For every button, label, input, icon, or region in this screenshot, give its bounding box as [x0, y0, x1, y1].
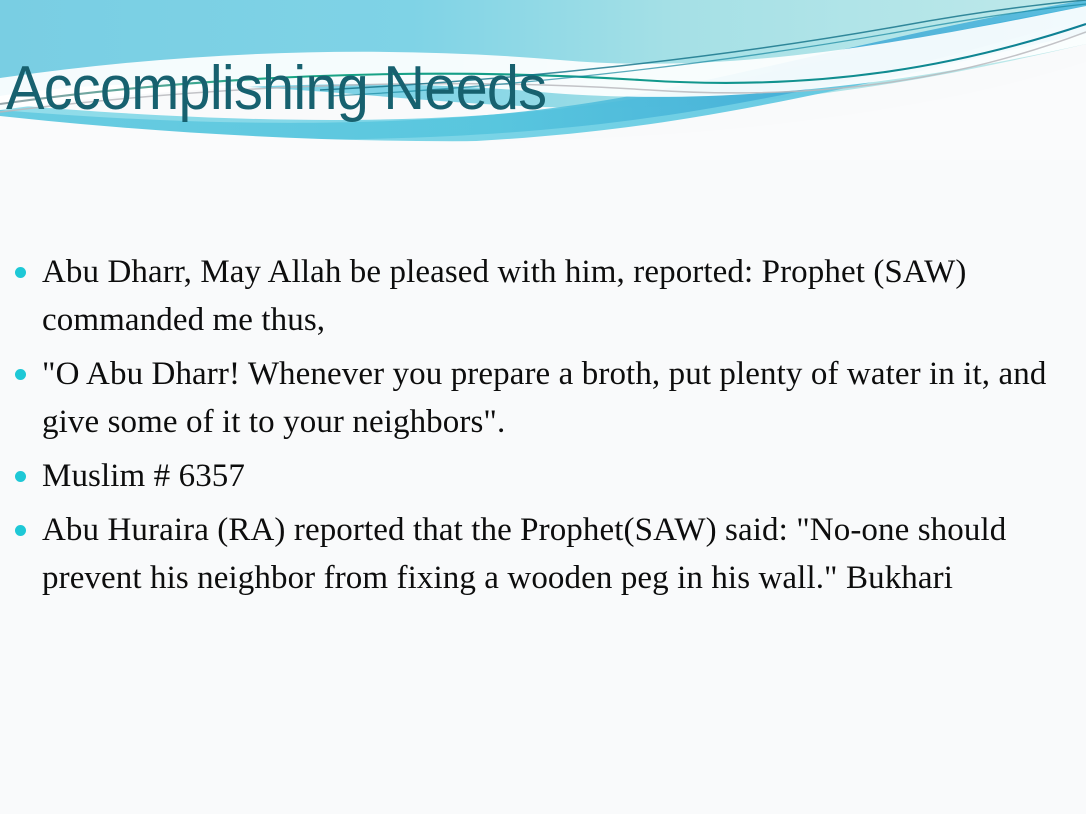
circle-bullet-icon — [15, 369, 26, 380]
page-title: Accomplishing Needs — [6, 58, 546, 120]
list-item-text: Abu Dharr, May Allah be pleased with him… — [42, 248, 1078, 344]
list-item-text: "O Abu Dharr! Whenever you prepare a bro… — [42, 350, 1078, 446]
presentation-slide: Accomplishing Needs Abu Dharr, May Allah… — [0, 0, 1086, 814]
bullet-list: Abu Dharr, May Allah be pleased with him… — [0, 248, 1086, 608]
circle-bullet-icon — [15, 471, 26, 482]
circle-bullet-icon — [15, 525, 26, 536]
list-item: "O Abu Dharr! Whenever you prepare a bro… — [0, 350, 1086, 446]
list-item: Abu Dharr, May Allah be pleased with him… — [0, 248, 1086, 344]
list-item: Muslim # 6357 — [0, 452, 1086, 500]
list-item: Abu Huraira (RA) reported that the Proph… — [0, 506, 1086, 602]
list-item-text: Abu Huraira (RA) reported that the Proph… — [42, 506, 1078, 602]
circle-bullet-icon — [15, 267, 26, 278]
list-item-text: Muslim # 6357 — [42, 452, 1078, 500]
